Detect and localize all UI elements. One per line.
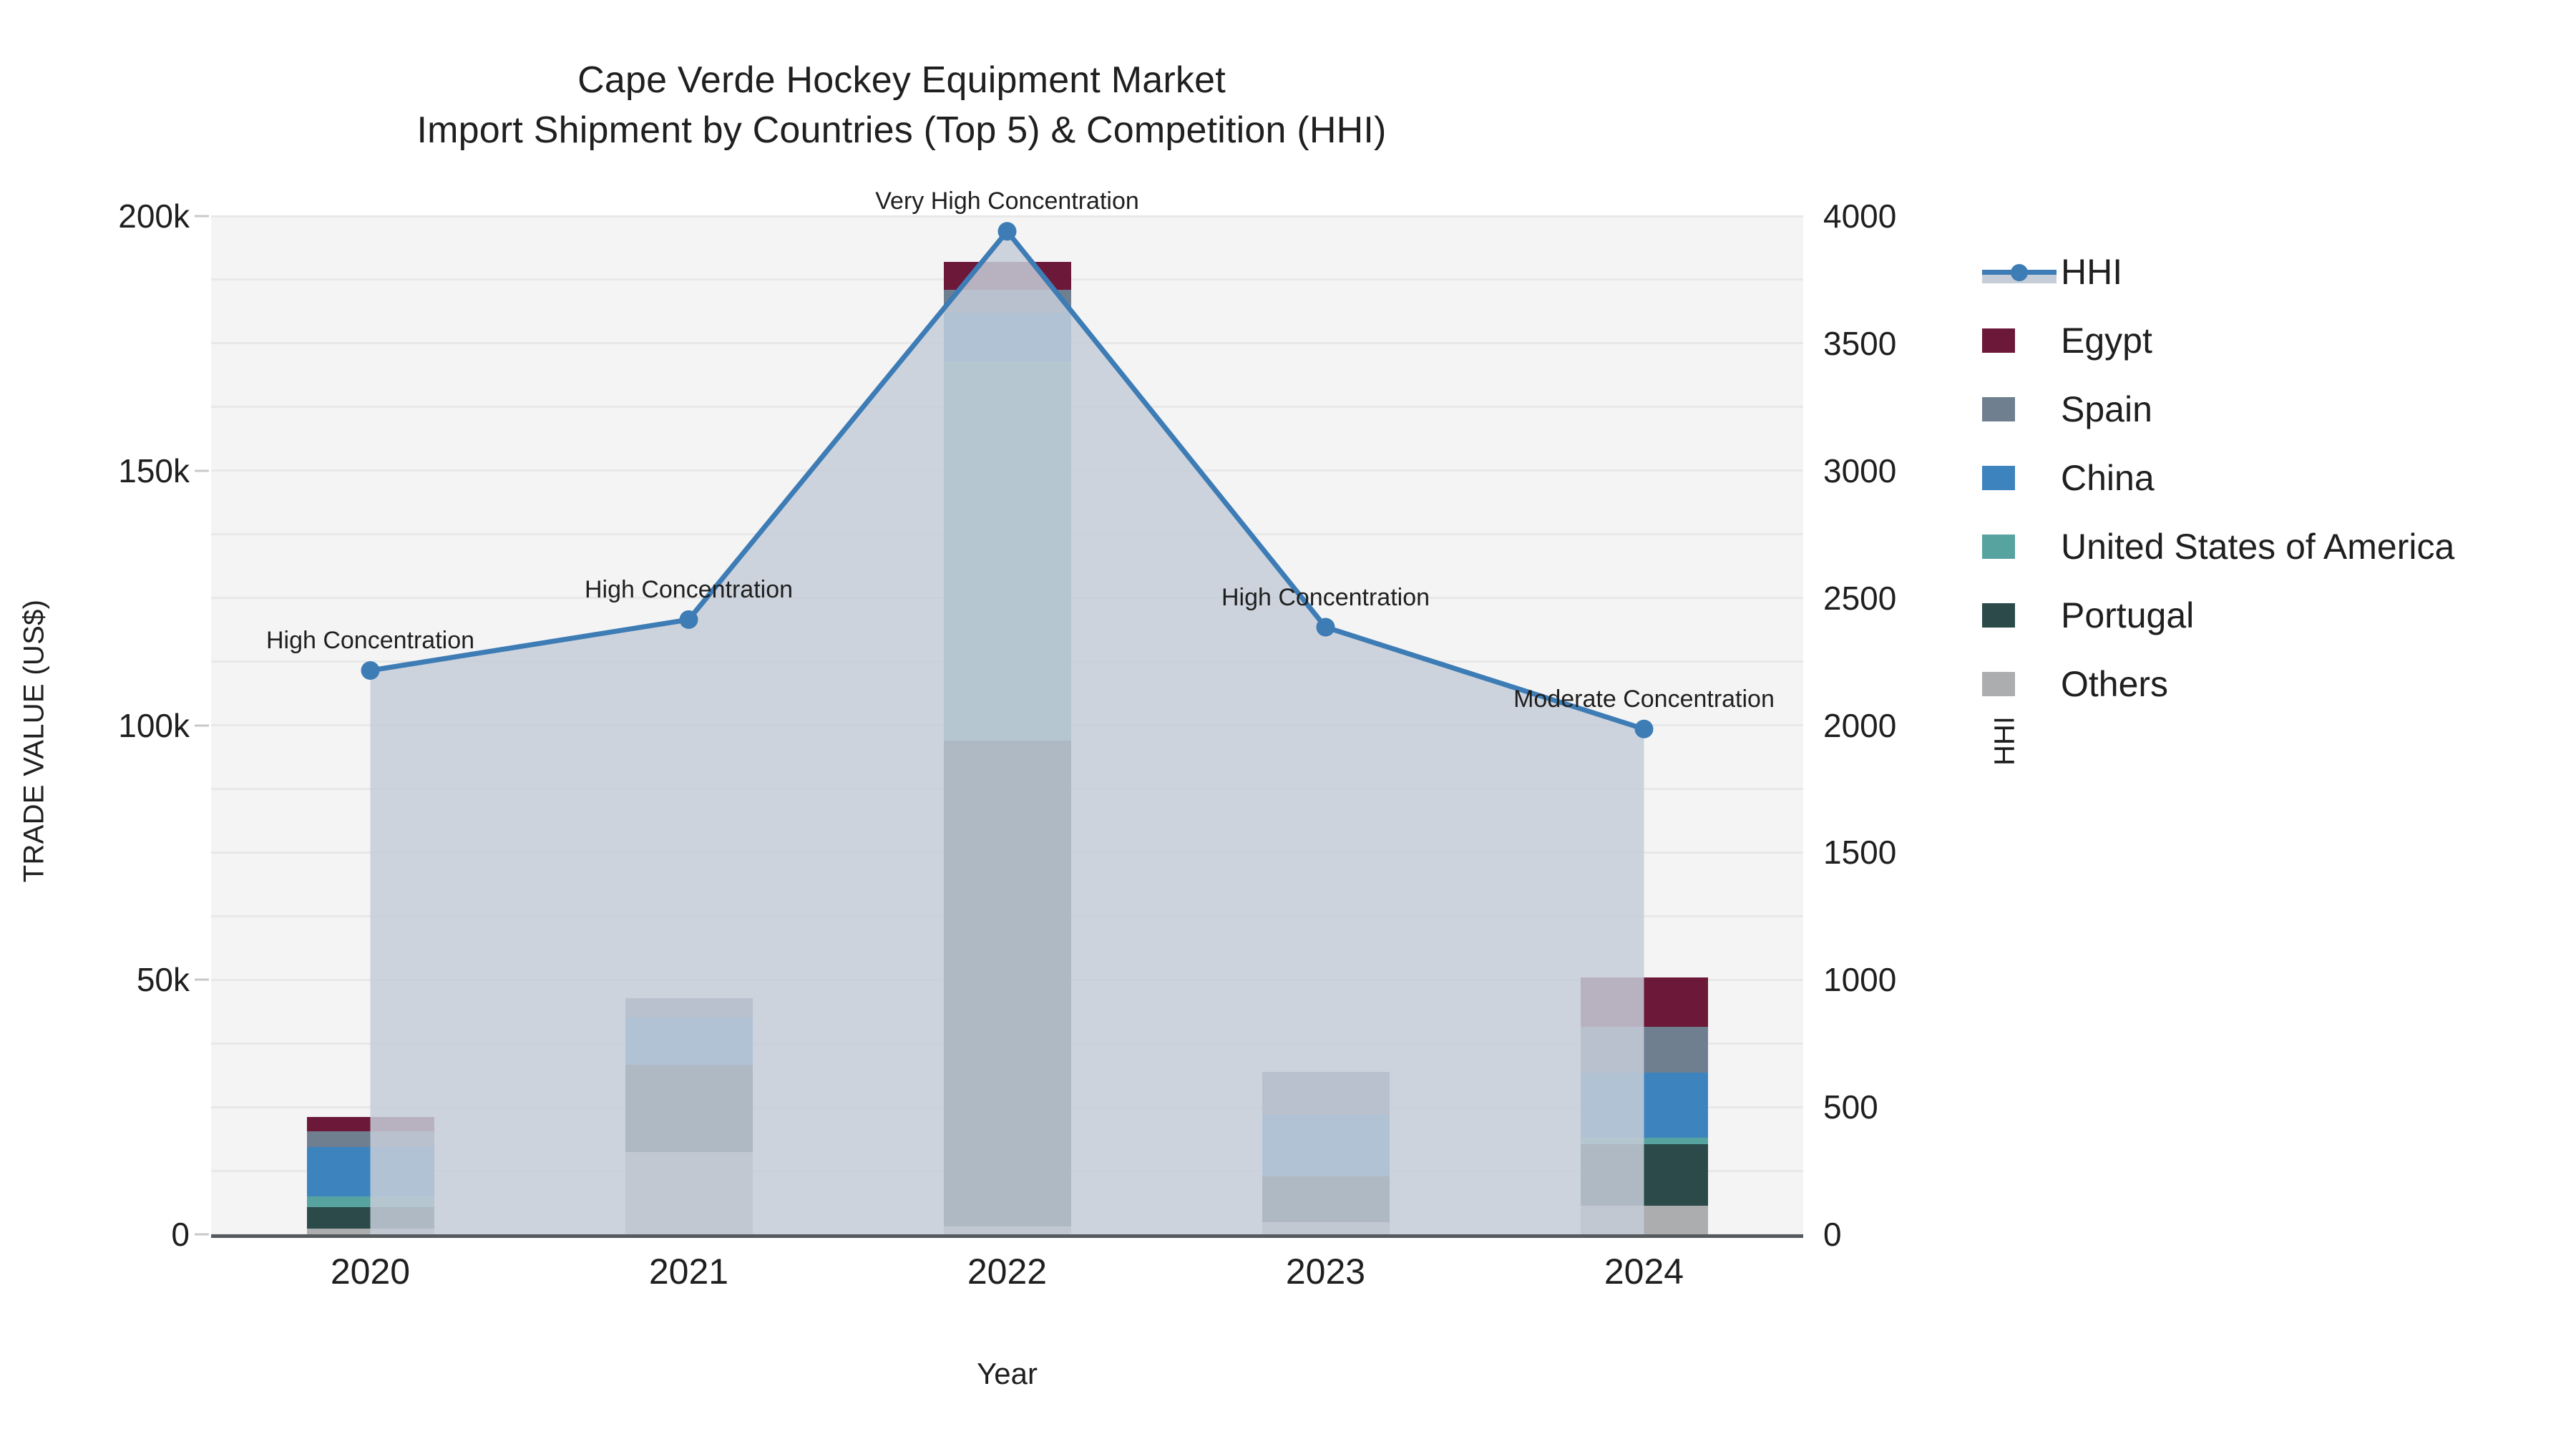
y-axis-right-tick-label: 1000	[1823, 960, 2009, 999]
hhi-data-point[interactable]	[1635, 720, 1654, 738]
hhi-area-fill	[371, 231, 1644, 1234]
chart-title-line-1: Cape Verde Hockey Equipment Market	[0, 56, 1803, 106]
y-axis-right-tick-label: 2500	[1823, 579, 2009, 618]
legend-line-swatch	[1982, 250, 2061, 293]
legend-color-swatch	[1982, 594, 2061, 637]
hhi-data-point[interactable]	[1317, 618, 1335, 637]
legend-item[interactable]: China	[1982, 444, 2569, 512]
legend-item-label: United States of America	[2061, 529, 2454, 565]
legend-marker-dot	[2011, 264, 2028, 281]
legend-item-label: HHI	[2061, 254, 2122, 290]
legend-item[interactable]: Others	[1982, 650, 2569, 718]
legend-item-label: Spain	[2061, 391, 2152, 427]
y-axis-left-tick-mark	[195, 469, 209, 472]
hhi-annotation: High Concentration	[266, 627, 474, 655]
x-axis-tick-label: 2023	[1183, 1251, 1469, 1292]
hhi-data-point[interactable]	[998, 222, 1017, 240]
y-axis-right-tick-label: 3500	[1823, 324, 2009, 363]
square-swatch-icon	[1982, 328, 2015, 353]
x-axis-tick-label: 2020	[228, 1251, 514, 1292]
legend-item[interactable]: HHI	[1982, 238, 2569, 306]
x-axis-line	[211, 1234, 1803, 1238]
legend-item-label: Egypt	[2061, 323, 2152, 358]
y-axis-left-tick-label: 0	[7, 1215, 190, 1254]
y-axis-left-label: TRADE VALUE (US$)	[19, 455, 51, 1028]
hhi-annotation: High Concentration	[1221, 584, 1430, 612]
y-axis-left-tick-mark	[195, 724, 209, 726]
legend-color-swatch	[1982, 457, 2061, 499]
hhi-annotation: Very High Concentration	[875, 187, 1139, 215]
hhi-line-series	[211, 216, 1803, 1234]
y-axis-left-tick-label: 200k	[7, 197, 190, 235]
legend-item[interactable]: United States of America	[1982, 512, 2569, 581]
y-axis-right-tick-label: 1500	[1823, 833, 2009, 872]
chart-legend: HHIEgyptSpainChinaUnited States of Ameri…	[1982, 238, 2569, 718]
legend-item-label: China	[2061, 460, 2155, 496]
square-swatch-icon	[1982, 603, 2015, 628]
x-axis-label: Year	[211, 1357, 1803, 1391]
legend-color-swatch	[1982, 319, 2061, 362]
y-axis-left-tick-mark	[195, 1234, 209, 1236]
y-axis-left-tick-mark	[195, 979, 209, 981]
chart-title-line-2: Import Shipment by Countries (Top 5) & C…	[0, 106, 1803, 156]
legend-item-label: Others	[2061, 666, 2168, 702]
legend-color-swatch	[1982, 663, 2061, 706]
hhi-annotation: Moderate Concentration	[1513, 686, 1775, 713]
square-swatch-icon	[1982, 535, 2015, 559]
line-marker-icon	[1982, 258, 2057, 286]
x-axis-tick-label: 2024	[1501, 1251, 1787, 1292]
y-axis-right-tick-label: 2000	[1823, 706, 2009, 745]
hhi-data-point[interactable]	[680, 610, 698, 629]
legend-color-swatch	[1982, 525, 2061, 568]
legend-color-swatch	[1982, 388, 2061, 431]
y-axis-left-tick-mark	[195, 215, 209, 218]
chart-figure: Cape Verde Hockey Equipment Market Impor…	[0, 0, 2576, 1449]
y-axis-right-tick-label: 3000	[1823, 452, 2009, 490]
y-axis-right-tick-label: 0	[1823, 1215, 2009, 1254]
hhi-annotation: High Concentration	[585, 576, 793, 604]
square-swatch-icon	[1982, 672, 2015, 696]
square-swatch-icon	[1982, 397, 2015, 421]
legend-item-label: Portugal	[2061, 597, 2194, 633]
hhi-data-point[interactable]	[361, 661, 380, 680]
chart-title: Cape Verde Hockey Equipment Market Impor…	[0, 56, 1803, 155]
y-axis-right-tick-label: 4000	[1823, 197, 2009, 235]
legend-item[interactable]: Portugal	[1982, 581, 2569, 650]
legend-item[interactable]: Spain	[1982, 375, 2569, 444]
x-axis-tick-label: 2021	[546, 1251, 832, 1292]
y-axis-right-tick-label: 500	[1823, 1088, 2009, 1126]
square-swatch-icon	[1982, 466, 2015, 490]
x-axis-tick-label: 2022	[864, 1251, 1151, 1292]
legend-item[interactable]: Egypt	[1982, 306, 2569, 375]
